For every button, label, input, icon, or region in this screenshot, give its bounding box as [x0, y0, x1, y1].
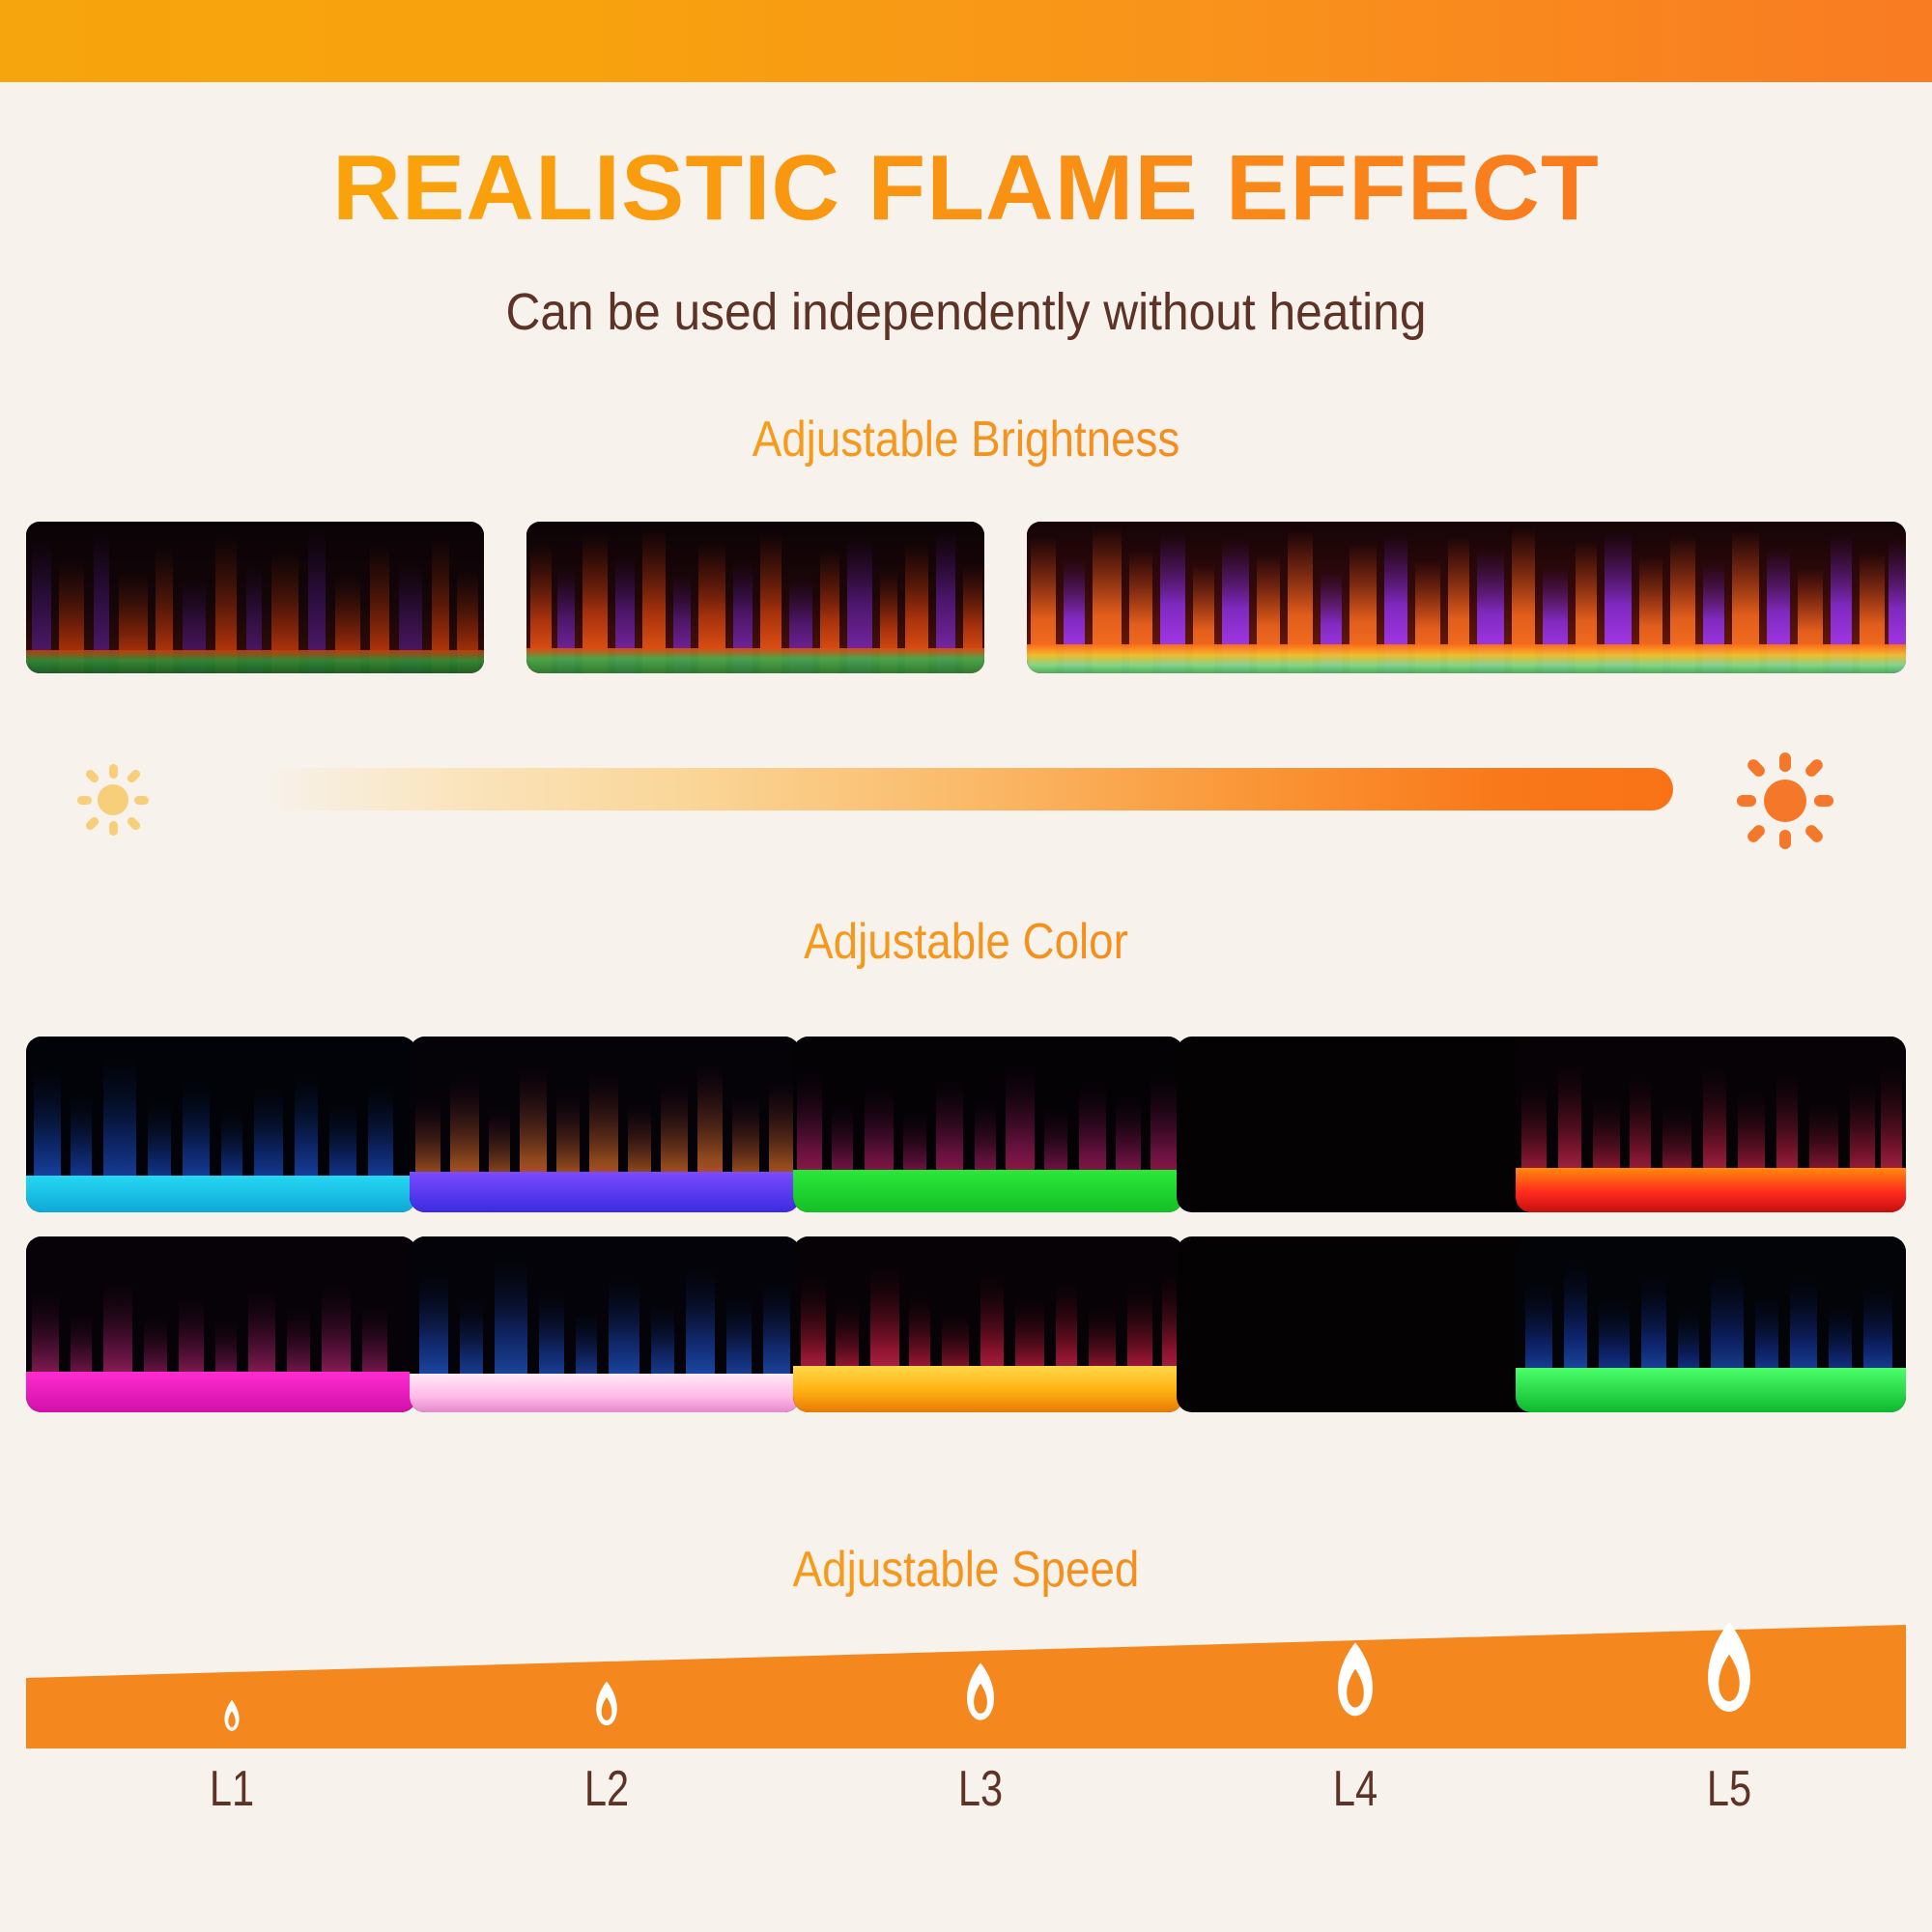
flame-icon — [1320, 1638, 1391, 1735]
color-tile-red-amber — [793, 1236, 1183, 1412]
top-banner — [0, 0, 1932, 82]
section-heading-color: Adjustable Color — [116, 913, 1816, 971]
brightness-panel-high — [1027, 522, 1906, 673]
color-tile-blue-cyan — [26, 1037, 416, 1212]
color-tile-blue-green-2 — [1516, 1236, 1906, 1412]
speed-level-l3[interactable]: L3 — [923, 1613, 1038, 1835]
brightness-slider[interactable] — [0, 739, 1932, 874]
speed-level-l4[interactable]: L4 — [1293, 1613, 1418, 1835]
color-tile-magenta — [26, 1236, 416, 1412]
brightness-panel-low — [26, 522, 484, 673]
sun-icon — [79, 766, 147, 834]
color-tile-pink-red — [1177, 1037, 1567, 1212]
flame-image-medium — [526, 522, 984, 673]
speed-label-l1: L1 — [210, 1760, 254, 1818]
flame-image-low — [26, 522, 484, 673]
flame-image — [793, 1037, 1183, 1212]
color-tile-pink-violet — [410, 1037, 800, 1212]
brightness-panel-row — [0, 522, 1932, 676]
speed-label-l3: L3 — [958, 1760, 1003, 1818]
color-tile-blue-white — [410, 1236, 800, 1412]
speed-level-l1[interactable]: L1 — [174, 1613, 290, 1835]
speed-ramp[interactable]: L1 L2 L3 L4 — [0, 1613, 1932, 1903]
section-heading-speed: Adjustable Speed — [116, 1541, 1816, 1599]
flame-image — [793, 1236, 1183, 1412]
sun-icon — [1739, 754, 1832, 847]
color-tile-grid — [0, 1037, 1932, 1413]
color-tile-blue-green — [1177, 1236, 1567, 1412]
section-heading-brightness: Adjustable Brightness — [116, 411, 1816, 469]
speed-label-l2: L2 — [583, 1760, 628, 1818]
flame-image — [26, 1236, 416, 1412]
speed-label-l4: L4 — [1332, 1760, 1377, 1818]
flame-image-high — [1027, 522, 1906, 673]
slider-track[interactable] — [263, 768, 1673, 810]
flame-icon — [217, 1698, 246, 1739]
flame-image — [1516, 1236, 1906, 1412]
flame-image — [410, 1236, 800, 1412]
flame-icon — [1686, 1617, 1773, 1735]
speed-label-l5: L5 — [1707, 1760, 1751, 1818]
color-tile-red-green — [793, 1037, 1183, 1212]
brightness-panel-medium — [526, 522, 984, 673]
page-subtitle: Can be used independently without heatin… — [77, 282, 1855, 342]
flame-icon — [585, 1679, 628, 1737]
infographic-page: REALISTIC FLAME EFFECT Can be used indep… — [0, 0, 1932, 1932]
page-title: REALISTIC FLAME EFFECT — [0, 140, 1932, 238]
flame-icon — [952, 1660, 1009, 1735]
speed-level-l5[interactable]: L5 — [1662, 1613, 1797, 1835]
flame-image — [410, 1037, 800, 1212]
flame-image — [26, 1037, 416, 1212]
speed-level-l2[interactable]: L2 — [549, 1613, 665, 1835]
flame-image — [1516, 1037, 1906, 1212]
color-tile-pink-red-2 — [1516, 1037, 1906, 1212]
